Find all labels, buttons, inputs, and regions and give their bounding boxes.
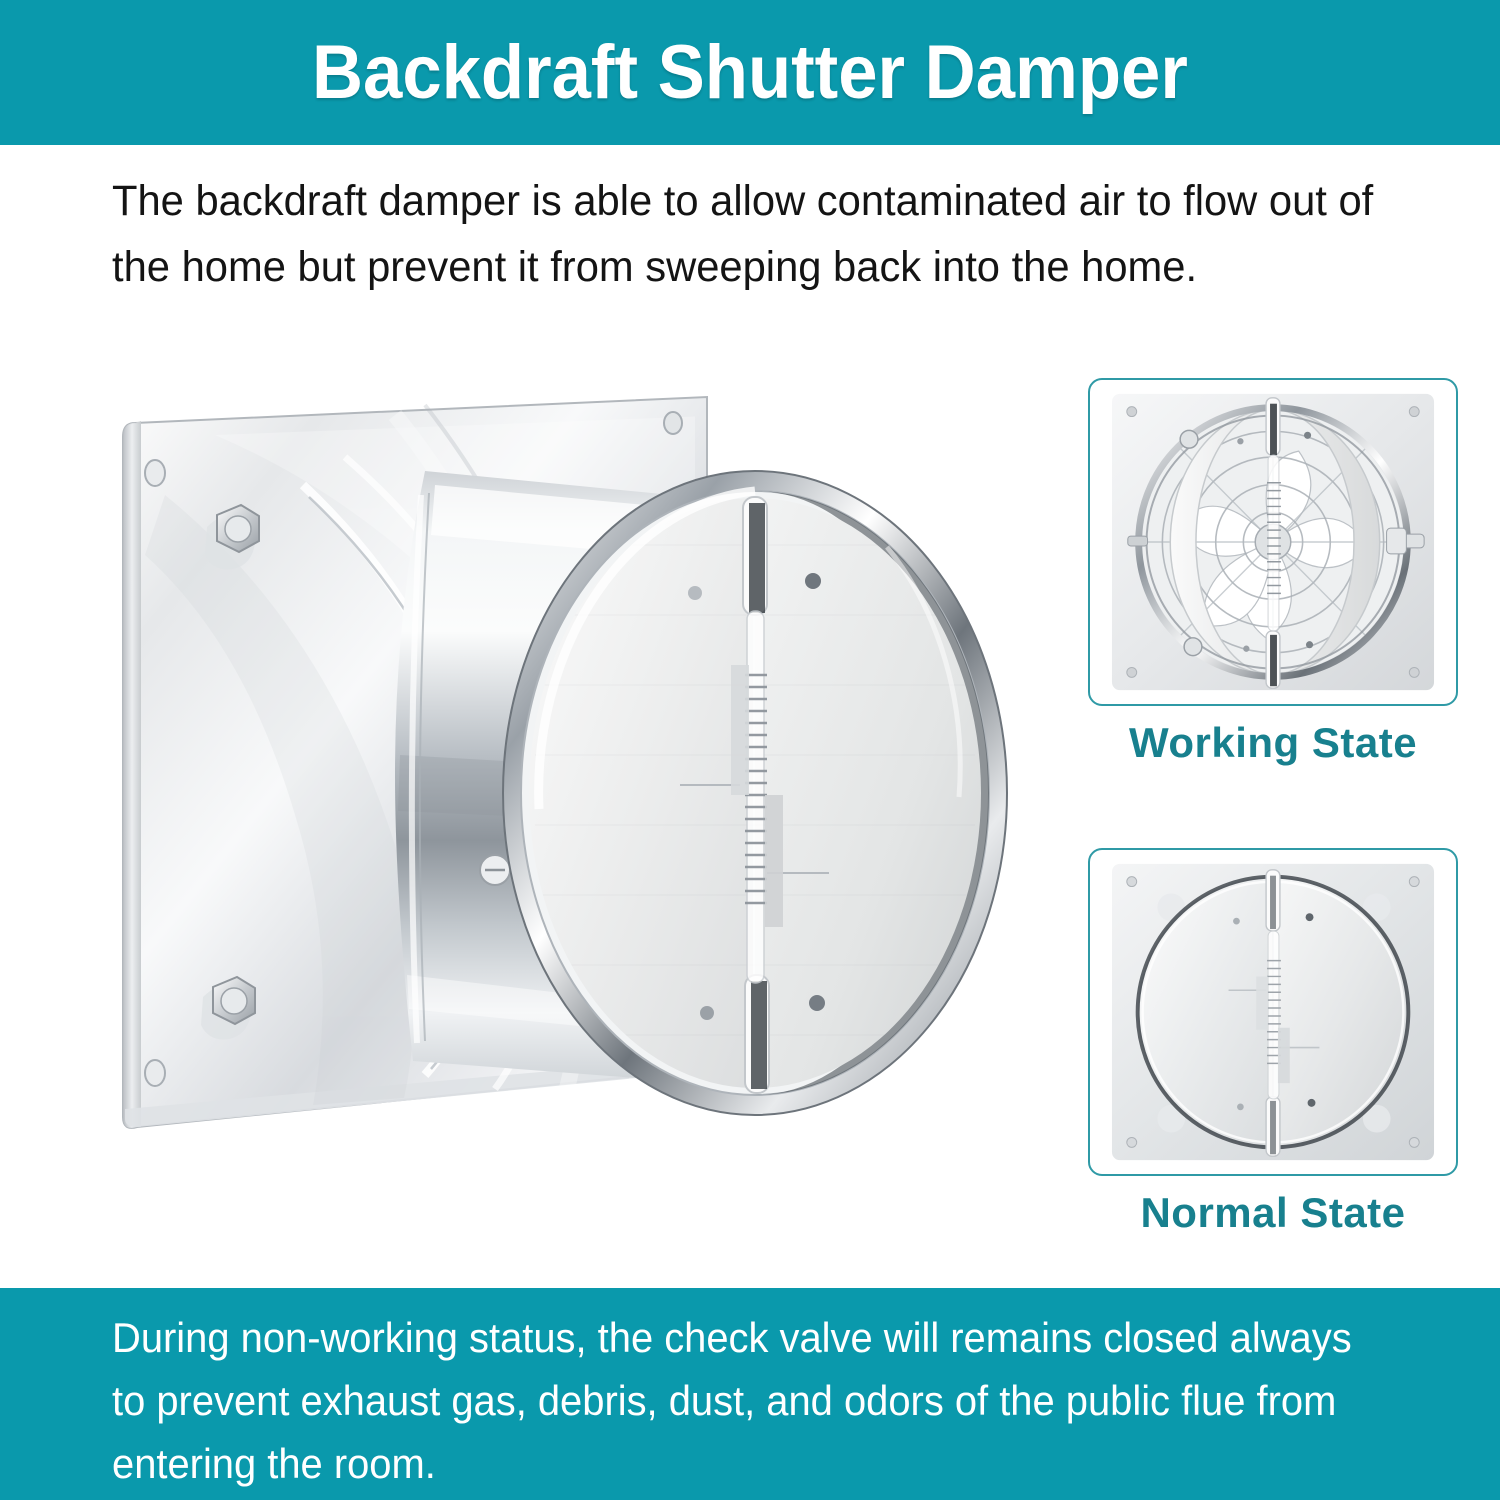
intro-paragraph: The backdraft damper is able to allow co… [112, 168, 1392, 300]
inset-working-frame [1088, 378, 1458, 706]
infographic-page: Backdraft Shutter Damper The backdraft d… [0, 0, 1500, 1500]
header-banner: Backdraft Shutter Damper [0, 0, 1500, 145]
footer-banner: During non-working status, the check val… [0, 1288, 1500, 1500]
page-title: Backdraft Shutter Damper [312, 35, 1188, 111]
hero-product-image [95, 375, 1045, 1215]
footer-paragraph: During non-working status, the check val… [112, 1306, 1376, 1495]
inset-label-working: Working State [1088, 720, 1458, 766]
inset-working-state[interactable]: Working State [1088, 378, 1458, 766]
damper-face-assembly [503, 471, 1007, 1115]
spring-hinge-open [1266, 398, 1281, 688]
inset-normal-state[interactable]: Normal State [1088, 848, 1458, 1236]
inset-normal-frame [1088, 848, 1458, 1176]
inset-label-normal: Normal State [1088, 1190, 1458, 1236]
state-insets: Working State [1088, 378, 1458, 1258]
